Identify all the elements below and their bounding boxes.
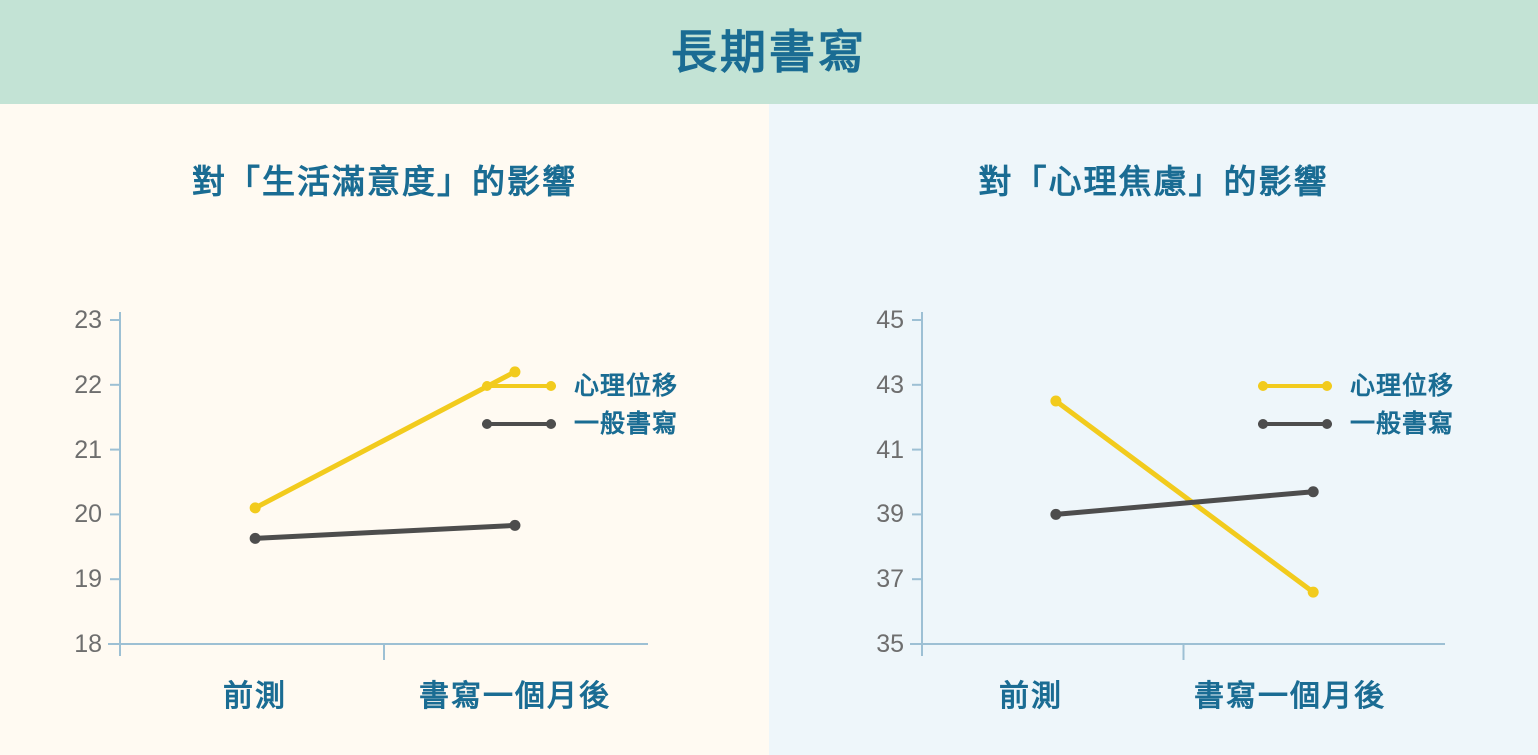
x-category-label: 前測 <box>931 682 1131 712</box>
x-category-label: 前測 <box>155 682 355 712</box>
line-swatch-icon <box>1258 416 1332 432</box>
legend-label: 心理位移 <box>1350 374 1454 399</box>
page-title: 長期書寫 <box>671 29 867 75</box>
y-tick-label: 43 <box>846 373 904 398</box>
y-tick-label: 20 <box>44 502 102 527</box>
y-tick-label: 45 <box>846 308 904 333</box>
charts-container: 對「生活滿意度」的影響 心理位移 <box>0 104 1538 755</box>
legend-label: 一般書寫 <box>574 412 678 437</box>
y-tick-label: 35 <box>846 632 904 657</box>
chart-legend-psychological-anxiety: 心理位移 一般書寫 <box>1258 372 1454 438</box>
y-tick-label: 22 <box>44 373 102 398</box>
x-category-label: 書寫一個月後 <box>1190 682 1390 712</box>
y-tick-label: 23 <box>44 308 102 333</box>
y-tick-label: 37 <box>846 567 904 592</box>
legend-item-general-writing[interactable]: 一般書寫 <box>482 410 678 438</box>
y-tick-label: 39 <box>846 502 904 527</box>
page-root: 長期書寫 對「生活滿意度」的影響 心理位移 <box>0 0 1538 755</box>
line-swatch-icon <box>482 378 556 394</box>
legend-label: 心理位移 <box>574 374 678 399</box>
line-swatch-icon <box>1258 378 1332 394</box>
y-tick-label: 41 <box>846 438 904 463</box>
chart-legend-life-satisfaction: 心理位移 一般書寫 <box>482 372 678 438</box>
line-swatch-icon <box>482 416 556 432</box>
y-tick-label: 18 <box>44 632 102 657</box>
legend-item-general-writing[interactable]: 一般書寫 <box>1258 410 1454 438</box>
x-category-label: 書寫一個月後 <box>415 682 615 712</box>
page-header: 長期書寫 <box>0 0 1538 104</box>
legend-item-psychological-displacement[interactable]: 心理位移 <box>482 372 678 400</box>
chart-panel-life-satisfaction: 對「生活滿意度」的影響 心理位移 <box>0 104 769 755</box>
y-tick-label: 19 <box>44 567 102 592</box>
legend-item-psychological-displacement[interactable]: 心理位移 <box>1258 372 1454 400</box>
legend-label: 一般書寫 <box>1350 412 1454 437</box>
y-tick-label: 21 <box>44 438 102 463</box>
